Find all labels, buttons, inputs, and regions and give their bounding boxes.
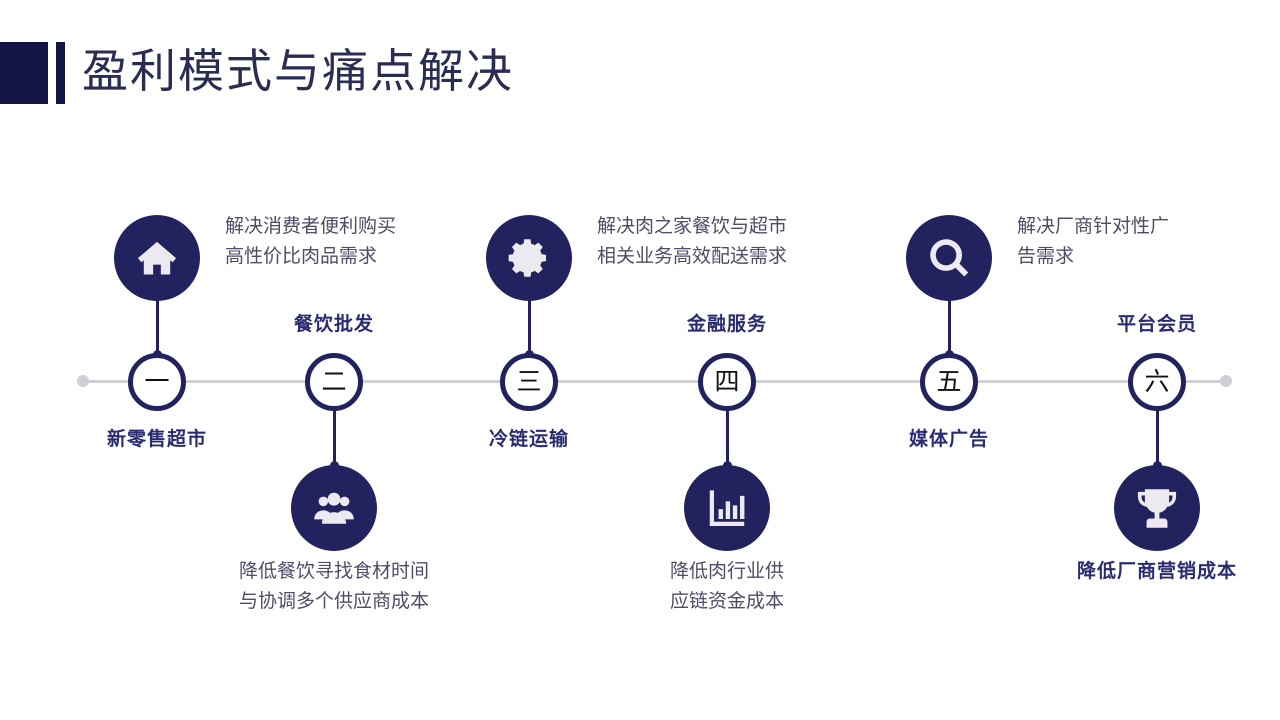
numeral-text: 四 (714, 370, 739, 395)
page-title: 盈利模式与痛点解决 (82, 41, 514, 103)
home-icon (135, 236, 179, 280)
header-accent-block (0, 42, 48, 104)
node-connector-stem (528, 299, 531, 355)
node-label-4: 金融服务 (687, 309, 767, 336)
axis-endpoint-dot-right (1220, 375, 1232, 387)
numeral-text: 二 (321, 370, 346, 395)
trophy-icon (1135, 486, 1179, 530)
numeral-text: 五 (936, 370, 961, 395)
node-label-6: 平台会员 (1117, 309, 1197, 336)
node-label-3: 冷链运输 (489, 424, 569, 451)
node-description-6: 降低厂商营销成本 (1077, 557, 1237, 587)
node-description-1: 解决消费者便利购买 高性价比肉品需求 (225, 212, 396, 272)
icon-bubble-2[interactable] (291, 465, 377, 551)
search-icon (927, 236, 971, 280)
node-description-3: 解决肉之家餐饮与超市 相关业务高效配送需求 (597, 212, 787, 272)
numeral-circle-6[interactable]: 六 (1128, 353, 1186, 411)
node-description-5: 解决厂商针对性广 告需求 (1017, 212, 1169, 272)
icon-bubble-1[interactable] (114, 215, 200, 301)
icon-bubble-5[interactable] (906, 215, 992, 301)
icon-bubble-4[interactable] (684, 465, 770, 551)
node-label-1: 新零售超市 (107, 424, 207, 451)
users-group-icon (312, 486, 356, 530)
numeral-text: 六 (1144, 370, 1169, 395)
icon-bubble-6[interactable] (1114, 465, 1200, 551)
numeral-circle-2[interactable]: 二 (305, 353, 363, 411)
numeral-text: 三 (516, 370, 541, 395)
axis-endpoint-dot-left (77, 375, 89, 387)
numeral-circle-4[interactable]: 四 (698, 353, 756, 411)
node-description-4: 降低肉行业供 应链资金成本 (670, 557, 784, 617)
numeral-circle-3[interactable]: 三 (500, 353, 558, 411)
node-label-2: 餐饮批发 (294, 309, 374, 336)
numeral-circle-5[interactable]: 五 (920, 353, 978, 411)
header-accent-bar (56, 42, 65, 104)
timeline-axis (83, 380, 1227, 383)
numeral-text: 一 (144, 370, 169, 395)
bar-chart-icon (705, 486, 749, 530)
numeral-circle-1[interactable]: 一 (128, 353, 186, 411)
icon-bubble-3[interactable] (486, 215, 572, 301)
node-connector-stem (156, 299, 159, 355)
node-label-5: 媒体广告 (909, 424, 989, 451)
node-description-2: 降低餐饮寻找食材时间 与协调多个供应商成本 (239, 557, 429, 617)
gear-icon (507, 236, 551, 280)
node-connector-stem (948, 299, 951, 355)
